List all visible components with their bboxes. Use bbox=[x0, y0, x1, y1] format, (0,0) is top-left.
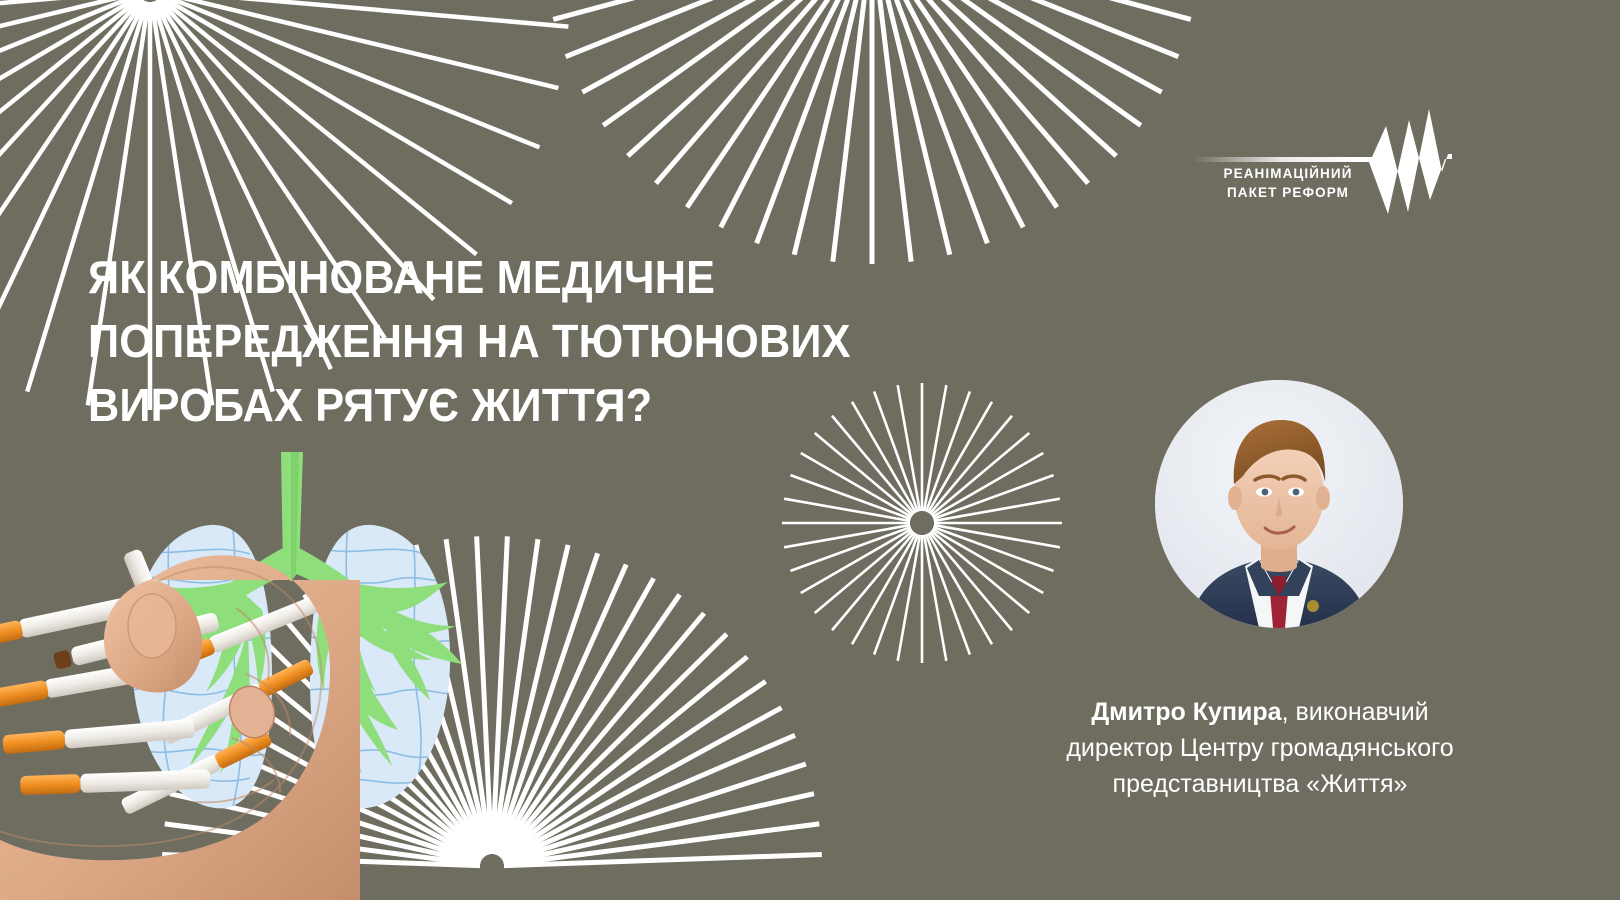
sunburst-top-center bbox=[620, 0, 1130, 130]
speaker-caption: Дмитро Купира, виконавчий директор Центр… bbox=[980, 694, 1540, 802]
sunburst-top-left bbox=[0, 0, 300, 180]
slide-canvas: ЯК КОМБІНОВАНЕ МЕДИЧНЕ ПОПЕРЕДЖЕННЯ НА Т… bbox=[0, 0, 1620, 900]
organization-logo: РЕАНІМАЦІЙНИЙ ПАКЕТ РЕФОРМ bbox=[1186, 104, 1452, 226]
sunburst-mid-right bbox=[840, 440, 1020, 620]
slide-title: ЯК КОМБІНОВАНЕ МЕДИЧНЕ ПОПЕРЕДЖЕННЯ НА Т… bbox=[88, 245, 990, 437]
speaker-role-line1: , виконавчий bbox=[1282, 698, 1429, 726]
speaker-name: Дмитро Купира bbox=[1091, 698, 1281, 726]
speaker-portrait bbox=[1155, 380, 1403, 628]
artwork-hand-cigarettes-lungs bbox=[0, 430, 820, 900]
speaker-role-line2: директор Центру громадянського bbox=[980, 730, 1540, 766]
logo-wordmark: РЕАНІМАЦІЙНИЙ ПАКЕТ РЕФОРМ bbox=[1200, 164, 1376, 202]
speaker-role-line3: представництва «Життя» bbox=[980, 766, 1540, 802]
